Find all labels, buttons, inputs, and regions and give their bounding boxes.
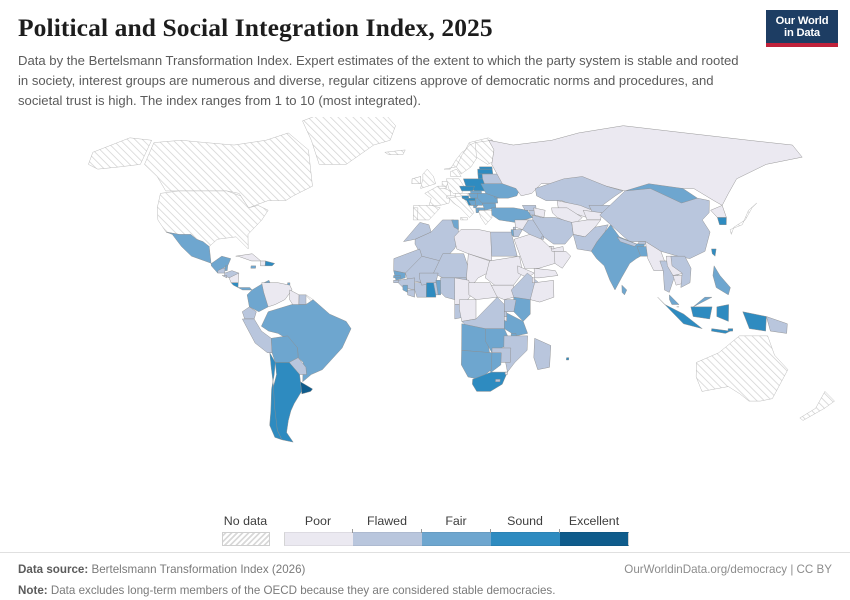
map-country-lesotho[interactable]: [495, 379, 500, 381]
map-country-yemen[interactable]: [534, 268, 558, 278]
map-country-haiti[interactable]: [260, 261, 265, 266]
map-country-congo[interactable]: [459, 299, 476, 321]
map-country-oman[interactable]: [554, 251, 571, 268]
owid-logo-line2: in Data: [770, 27, 834, 39]
legend-label-excellent: Excellent: [560, 514, 629, 528]
legend-label-poor: Poor: [284, 514, 353, 528]
map-country-slovakia[interactable]: [470, 191, 481, 193]
legend-swatch-sound[interactable]: [491, 532, 560, 546]
map-country-japan[interactable]: [730, 203, 757, 234]
world-map-svg[interactable]: [0, 117, 850, 514]
legend-no-data-swatch: [222, 532, 270, 546]
map-country-panama[interactable]: [238, 287, 252, 289]
world-map[interactable]: [0, 117, 850, 514]
map-country-costa-rica[interactable]: [231, 282, 238, 287]
map-country-latvia[interactable]: [478, 169, 493, 174]
map-country-north-macedonia[interactable]: [478, 208, 485, 210]
map-country-south-korea[interactable]: [717, 217, 726, 224]
legend-label-sound: Sound: [491, 514, 560, 528]
footer-source-label: Data source:: [18, 563, 88, 576]
map-country-djibouti[interactable]: [532, 278, 534, 283]
legend-ramp-bars: [284, 532, 629, 546]
map-country-montenegro[interactable]: [473, 205, 477, 207]
map-country-sierra-leone[interactable]: [403, 285, 408, 292]
map-country-greenland[interactable]: [302, 117, 395, 164]
map-country-cuba[interactable]: [236, 253, 261, 260]
map-country-cote-d-ivoire[interactable]: [415, 282, 427, 296]
map-country-uganda[interactable]: [504, 299, 516, 311]
footer-note-label: Note:: [18, 584, 48, 597]
map-country-philippines[interactable]: [713, 266, 730, 295]
legend-swatch-fair[interactable]: [422, 532, 491, 546]
owid-logo[interactable]: Our World in Data: [766, 10, 838, 47]
legend-label-flawed: Flawed: [353, 514, 422, 528]
map-legend: No data PoorFlawedFairSoundExcellent: [0, 514, 850, 552]
legend-swatch-poor[interactable]: [284, 532, 353, 546]
footer-source-value: Bertelsmann Transformation Index (2026): [91, 563, 305, 576]
legend-ramp: PoorFlawedFairSoundExcellent: [284, 514, 629, 546]
map-country-gambia[interactable]: [394, 275, 401, 277]
map-country-ireland[interactable]: [412, 176, 421, 183]
footer-source: Data source: Bertelsmann Transformation …: [18, 561, 305, 579]
map-country-taiwan[interactable]: [711, 249, 716, 256]
map-country-sudan[interactable]: [485, 256, 522, 285]
map-country-mauritius[interactable]: [566, 357, 569, 359]
map-country-australia[interactable]: [696, 336, 788, 401]
footer-note-value: Data excludes long-term members of the O…: [51, 584, 556, 597]
map-country-uruguay[interactable]: [300, 381, 312, 393]
legend-no-data-label: No data: [224, 514, 267, 528]
map-country-liberia[interactable]: [408, 290, 415, 297]
map-country-dominican-republic[interactable]: [265, 261, 275, 266]
map-country-madagascar[interactable]: [534, 338, 551, 369]
chart-header: Political and Social Integration Index, …: [0, 0, 850, 111]
owid-map-chart: Political and Social Integration Index, …: [0, 0, 850, 600]
map-country-kuwait[interactable]: [541, 237, 544, 239]
map-country-estonia[interactable]: [479, 167, 492, 169]
map-country-malaysia[interactable]: [669, 295, 712, 307]
map-country-jordan[interactable]: [513, 229, 522, 236]
footer-link[interactable]: OurWorldinData.org/democracy | CC BY: [624, 561, 832, 579]
legend-no-data[interactable]: No data: [222, 514, 270, 546]
map-country-suriname[interactable]: [299, 295, 306, 305]
map-country-el-salvador[interactable]: [222, 275, 227, 277]
legend-swatch-flawed[interactable]: [353, 532, 422, 546]
map-country-qatar[interactable]: [551, 246, 554, 248]
legend-swatch-excellent[interactable]: [560, 532, 629, 546]
map-country-portugal[interactable]: [413, 208, 418, 220]
page-title: Political and Social Integration Index, …: [18, 14, 748, 42]
map-country-north-korea[interactable]: [711, 205, 727, 217]
map-country-czechia[interactable]: [459, 186, 474, 191]
footer-note: Note: Data excludes long-term members of…: [18, 582, 832, 600]
map-country-argentina[interactable]: [273, 362, 301, 442]
legend-ramp-labels: PoorFlawedFairSoundExcellent: [284, 514, 629, 532]
map-country-lebanon[interactable]: [513, 227, 515, 229]
map-country-jamaica[interactable]: [251, 266, 256, 268]
map-country-sri-lanka[interactable]: [622, 285, 627, 295]
chart-subtitle: Data by the Bertelsmann Transformation I…: [18, 51, 740, 111]
map-country-eswatini[interactable]: [505, 372, 507, 374]
map-country-belize[interactable]: [225, 266, 228, 271]
map-country-timor-leste[interactable]: [728, 328, 733, 330]
owid-logo-line1: Our World: [770, 15, 834, 27]
map-country-greece[interactable]: [478, 210, 492, 224]
map-country-iceland[interactable]: [385, 150, 405, 155]
legend-label-fair: Fair: [422, 514, 491, 528]
map-country-bhutan[interactable]: [639, 241, 646, 243]
map-country-papua-new-guinea[interactable]: [766, 316, 787, 333]
chart-footer: Data source: Bertelsmann Transformation …: [0, 552, 850, 600]
map-country-new-zealand[interactable]: [800, 391, 835, 420]
